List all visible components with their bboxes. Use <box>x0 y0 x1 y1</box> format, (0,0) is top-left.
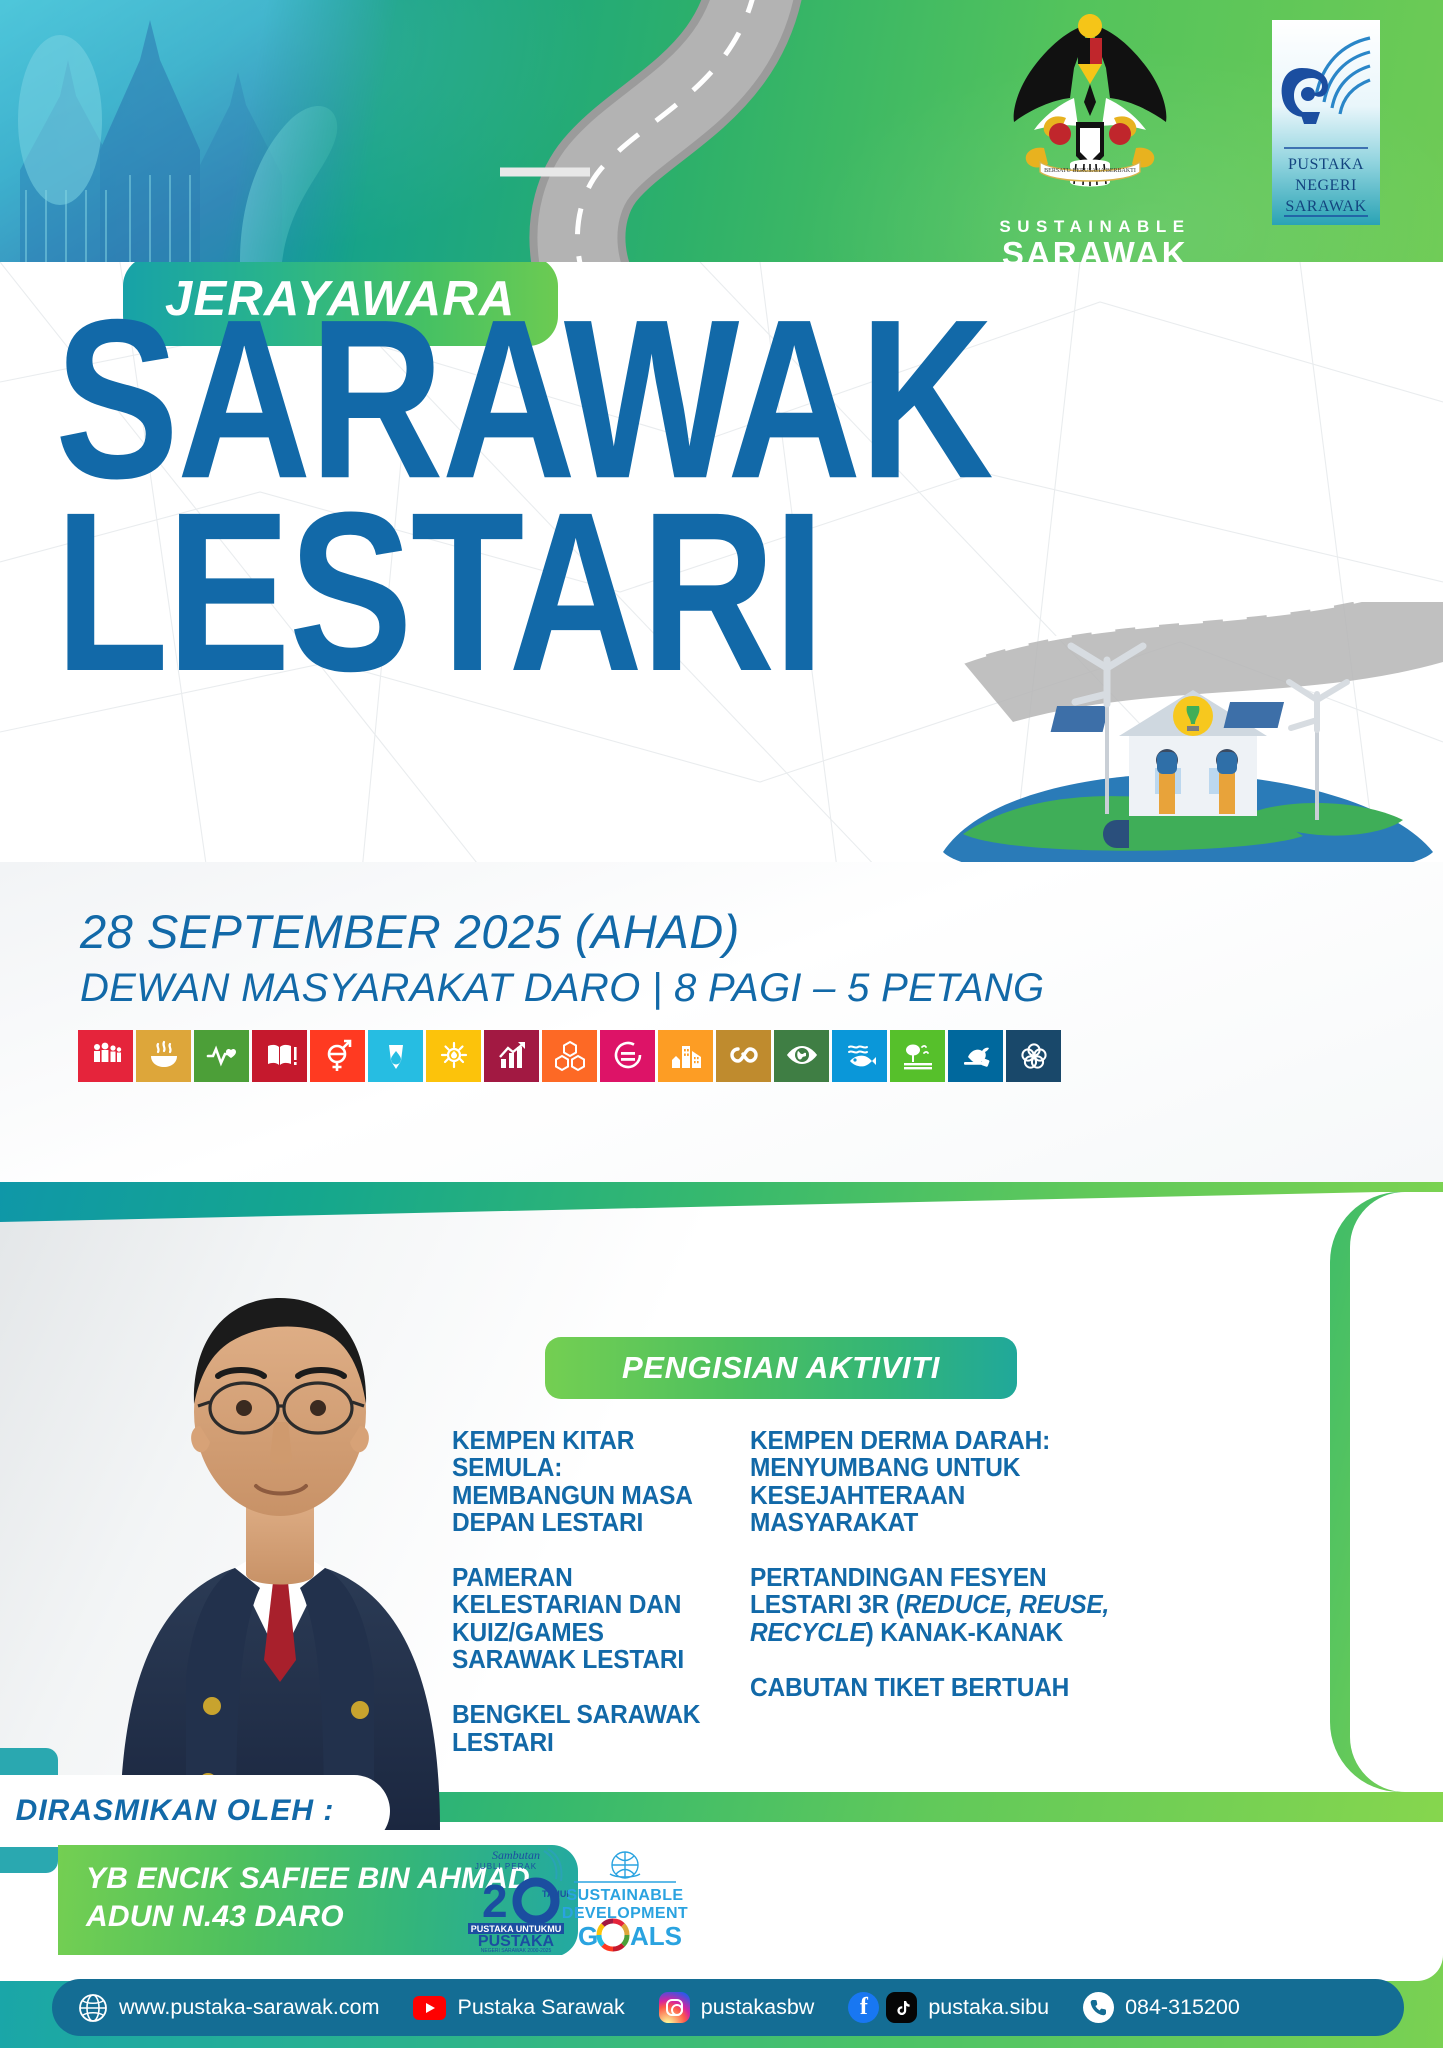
monument-silhouette <box>0 0 420 262</box>
sdg-icon-strip <box>78 1030 1061 1082</box>
activity-item: PAMERAN KELESTARIAN DAN KUIZ/GAMES SARAW… <box>452 1565 730 1674</box>
sdg-1-no-poverty <box>78 1030 133 1082</box>
activity-item: CABUTAN TIKET BERTUAH <box>750 1675 1134 1702</box>
facebook-icon: f <box>848 1992 879 2023</box>
activity-item: KEMPEN DERMA DARAH: MENYUMBANG UNTUK KES… <box>750 1428 1134 1537</box>
footer-facebook-tiktok-text: pustaka.sibu <box>928 1995 1049 2020</box>
activities-heading-badge: PENGISIAN AKTIVITI <box>545 1337 1017 1399</box>
sustainable-label: SUSTAINABLE <box>999 217 1190 236</box>
sdg-2-zero-hunger <box>136 1030 191 1082</box>
svg-text:NEGERI SARAWAK 2000-2025: NEGERI SARAWAK 2000-2025 <box>481 1948 552 1953</box>
sdg-7-affordable-energy <box>426 1030 481 1082</box>
footer-facebook-tiktok[interactable]: f pustaka.sibu <box>848 1992 1049 2023</box>
activity-item: BENGKEL SARAWAK LESTARI <box>452 1702 730 1757</box>
poster-header: BERSATU BERUSAHA BERBAKTI SUSTAINABLE SA… <box>0 0 1443 262</box>
activity-item: KEMPEN KITAR SEMULA: MEMBANGUN MASA DEPA… <box>452 1428 730 1537</box>
tiktok-icon <box>886 1992 917 2023</box>
svg-text:JUBLI PERAK: JUBLI PERAK <box>475 1862 537 1871</box>
svg-text:G: G <box>578 1921 598 1951</box>
sdg-4-quality-education <box>252 1030 307 1082</box>
activities-left-column: KEMPEN KITAR SEMULA: MEMBANGUN MASA DEPA… <box>452 1428 742 1785</box>
page-title: SARAWAK LESTARI <box>55 304 992 690</box>
svg-text:Sambutan: Sambutan <box>492 1848 540 1862</box>
pustaka-25th-anniversary-logo: Sambutan JUBLI PERAK 2 TAHUN PUSTAKA UNT… <box>462 1845 570 1953</box>
instagram-icon <box>659 1992 690 2023</box>
sdg-12-responsible-consumption <box>716 1030 771 1082</box>
sdg-16-peace-justice <box>948 1030 1003 1082</box>
phone-icon <box>1083 1992 1114 2023</box>
globe-icon <box>78 1993 108 2023</box>
footer-instagram-text: pustakasbw <box>701 1995 815 2020</box>
svg-text:DEVELOPMENT: DEVELOPMENT <box>562 1905 688 1922</box>
footer-website-text: www.pustaka-sarawak.com <box>119 1995 379 2020</box>
pustaka-negeri-sarawak-logo: PUSTAKA NEGERI SARAWAK <box>1272 20 1380 225</box>
svg-text:PUSTAKA: PUSTAKA <box>1288 156 1364 173</box>
footer-youtube-text: Pustaka Sarawak <box>457 1995 624 2020</box>
sdg-5-gender-equality <box>310 1030 365 1082</box>
sdg-10-reduced-inequalities <box>600 1030 655 1082</box>
officiated-by-label: DIRASMIKAN OLEH : <box>0 1775 390 1847</box>
activity-item-emphasis: REDUCE, REUSE, RECYCLE <box>750 1591 1109 1646</box>
sarawak-label: SARAWAK <box>965 237 1225 262</box>
footer-website[interactable]: www.pustaka-sarawak.com <box>78 1993 379 2023</box>
svg-text:SARAWAK: SARAWAK <box>1285 198 1366 215</box>
sustainable-house-illustration <box>923 602 1443 892</box>
footer-instagram[interactable]: pustakasbw <box>659 1992 815 2023</box>
sdg-8-decent-work <box>484 1030 539 1082</box>
footer-wave-white-curve <box>0 1955 1443 1981</box>
sdg-9-industry-innovation <box>542 1030 597 1082</box>
footer-phone[interactable]: 084-315200 <box>1083 1992 1240 2023</box>
sustainable-sarawak-wordmark: SUSTAINABLE SARAWAK <box>965 218 1225 262</box>
footer-contact-bar: www.pustaka-sarawak.com Pustaka Sarawak … <box>52 1979 1404 2036</box>
sdg-11-sustainable-cities <box>658 1030 713 1082</box>
event-date: 28 SEPTEMBER 2025 (AHAD) <box>80 904 740 959</box>
sdg-17-partnerships <box>1006 1030 1061 1082</box>
activities-right-column: KEMPEN DERMA DARAH: MENYUMBANG UNTUK KES… <box>750 1428 1150 1730</box>
sdg-6-clean-water <box>368 1030 423 1082</box>
footer-phone-text: 084-315200 <box>1125 1995 1240 2020</box>
activity-item: PERTANDINGAN FESYEN LESTARI 3R (REDUCE, … <box>750 1565 1134 1647</box>
svg-text:NEGERI: NEGERI <box>1295 177 1357 194</box>
footer-youtube[interactable]: Pustaka Sarawak <box>413 1995 624 2020</box>
svg-text:SUSTAINABLE: SUSTAINABLE <box>567 1887 684 1904</box>
dun-building-icon <box>0 0 420 262</box>
road-graphic <box>430 0 1050 262</box>
svg-text:BERSATU BERUSAHA BERBAKTI: BERSATU BERUSAHA BERBAKTI <box>1044 168 1136 174</box>
sdg-14-life-below-water <box>832 1030 887 1082</box>
sdg-15-life-on-land <box>890 1030 945 1082</box>
panel-white-round-edge <box>1350 1192 1443 1792</box>
svg-text:2: 2 <box>482 1875 508 1927</box>
event-venue-time: DEWAN MASYARAKAT DARO | 8 PAGI – 5 PETAN… <box>80 966 1044 1011</box>
sarawak-state-crest-icon: BERSATU BERUSAHA BERBAKTI <box>1000 6 1180 201</box>
sdg-3-good-health <box>194 1030 249 1082</box>
sdg-13-climate-action <box>774 1030 829 1082</box>
event-info-zone: 28 SEPTEMBER 2025 (AHAD) DEWAN MASYARAKA… <box>0 862 1443 1182</box>
youtube-icon <box>413 1996 446 2020</box>
speaker-portrait <box>60 1190 490 1830</box>
poster-title-zone: JERAYAWARA SARAWAK LESTARI <box>0 262 1443 892</box>
svg-text:ALS: ALS <box>630 1921 682 1951</box>
un-sdg-logo: SUSTAINABLE DEVELOPMENT G ALS <box>560 1848 690 1952</box>
